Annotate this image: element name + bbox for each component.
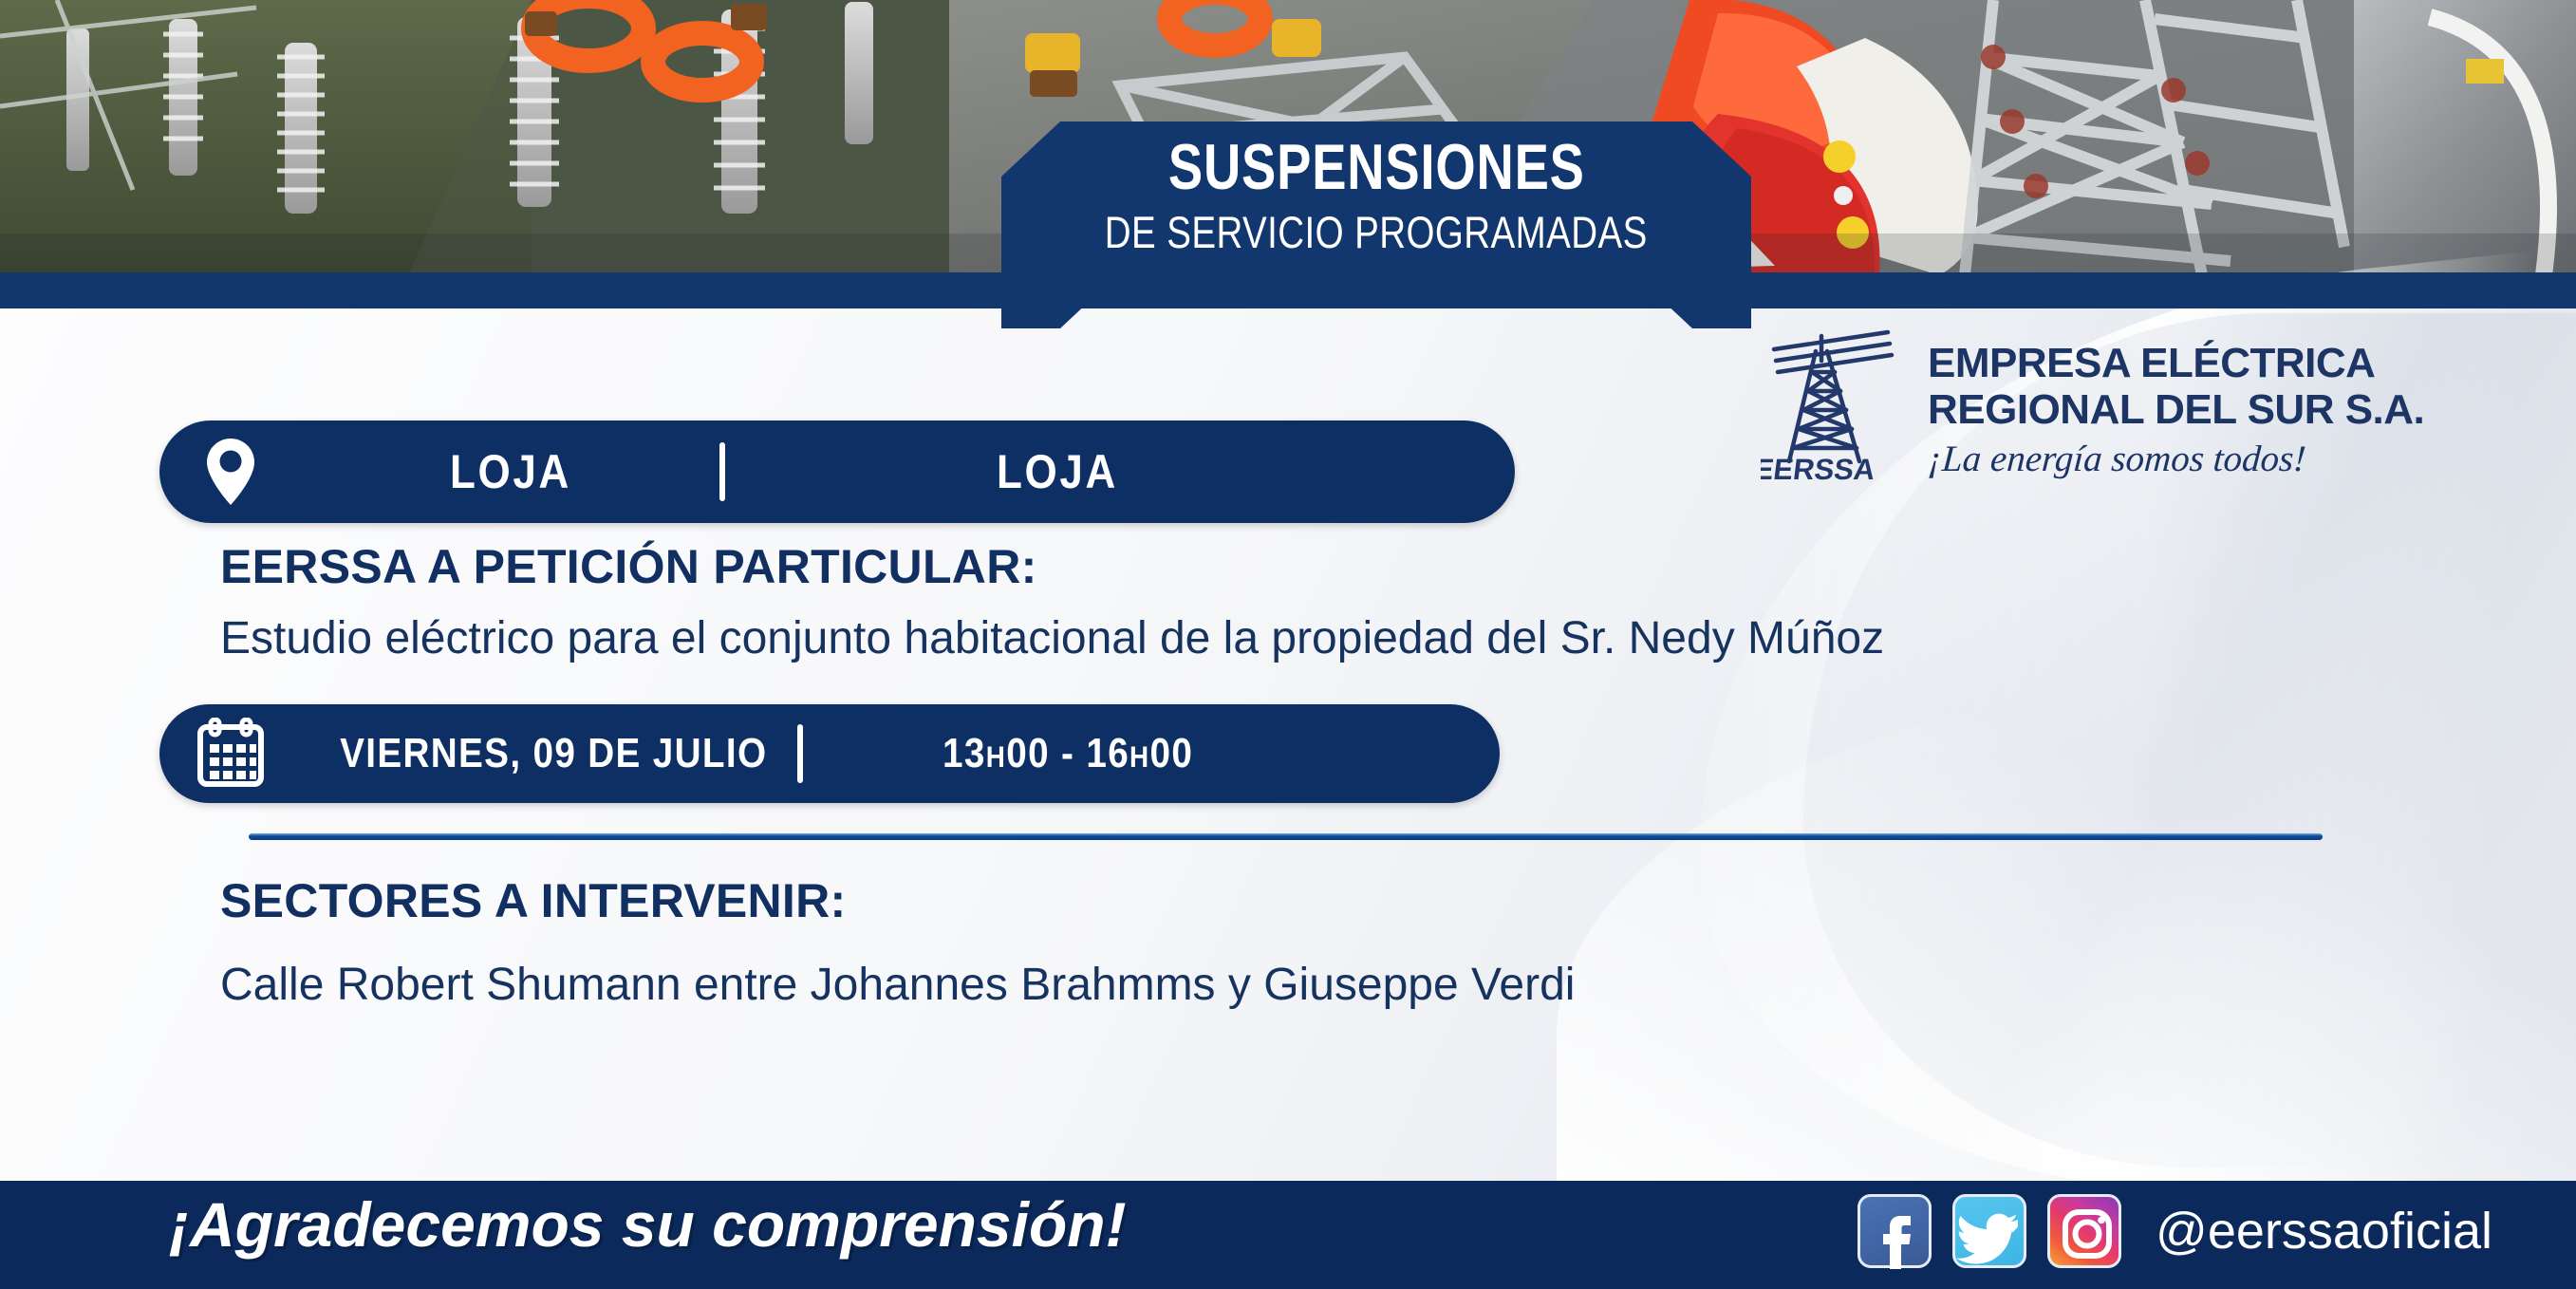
eerssa-logo: EERSSA EMPRESA ELÉCTRICA REGIONAL DEL SU… [1761, 323, 2425, 494]
svg-text:EERSSA: EERSSA [1761, 453, 1877, 484]
time-end-minute: 00 [1149, 730, 1193, 776]
instagram-icon[interactable] [2047, 1194, 2121, 1268]
header-navy-band [0, 272, 2576, 308]
logo-line-2: REGIONAL DEL SUR S.A. [1928, 386, 2424, 433]
time-start-hour: 13 [943, 730, 986, 776]
location-pill: LOJA LOJA [159, 420, 1515, 523]
time-end-unit: H [1129, 739, 1149, 774]
calendar-icon [159, 718, 302, 790]
location-canton: LOJA [773, 444, 1467, 499]
twitter-icon[interactable] [1952, 1194, 2026, 1268]
footer-message: ¡Agradecemos su comprensión! [169, 1188, 1127, 1261]
time-start-minute: 00 [1006, 730, 1050, 776]
suspension-date: VIERNES, 09 DE JULIO [331, 730, 767, 777]
time-end-hour: 16 [1086, 730, 1129, 776]
time-start-unit: H [985, 739, 1005, 774]
date-time-pill: VIERNES, 09 DE JULIO 13H00 - 16H00 [159, 704, 1500, 803]
suspension-time-range: 13H00 - 16H00 [845, 730, 1458, 777]
transmission-tower-icon: EERSSA [1761, 323, 1903, 484]
pill-separator-date [797, 724, 803, 783]
time-separator: - [1061, 730, 1074, 776]
suspension-notice-poster: SUSPENSIONES DE SERVICIO PROGRAMADAS [0, 0, 2576, 1289]
reason-heading: EERSSA A PETICIÓN PARTICULAR: [220, 539, 1037, 594]
facebook-icon[interactable] [1857, 1194, 1932, 1268]
social-handle[interactable]: @eerssaoficial [2156, 1202, 2492, 1261]
location-province: LOJA [327, 444, 694, 499]
section-divider [249, 833, 2323, 840]
sectors-heading: SECTORES A INTERVENIR: [220, 873, 846, 928]
pill-separator [719, 442, 725, 501]
reason-detail: Estudio eléctrico para el conjunto habit… [220, 612, 1884, 664]
map-pin-icon [159, 437, 302, 507]
social-links: @eerssaoficial [1857, 1194, 2492, 1268]
sectors-detail: Calle Robert Shumann entre Johannes Brah… [220, 959, 1575, 1011]
logo-line-1: EMPRESA ELÉCTRICA [1928, 340, 2424, 386]
logo-slogan: ¡La energía somos todos! [1926, 438, 2426, 482]
